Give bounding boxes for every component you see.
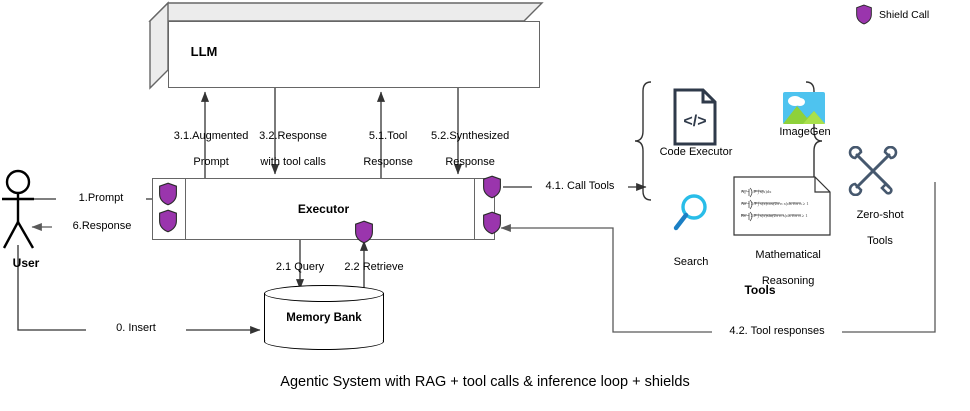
user-label: User xyxy=(2,256,50,270)
edge-label-prompt: 1.Prompt xyxy=(56,192,146,205)
memory-bank-label: Memory Bank xyxy=(264,285,384,350)
diagram-canvas: LLM Executor Memory Bank User 3.1.Augmen… xyxy=(0,0,970,411)
edge-label-line1: 3.2.Response xyxy=(259,130,327,142)
search-magnifier-icon[interactable] xyxy=(672,192,710,234)
edge-label-line2: Response xyxy=(363,156,413,168)
imagegen-label: ImageGen xyxy=(763,126,847,139)
math-document-icon[interactable]: A₀ = 1/P ∫ s(x)dx Aₙ = 2/P ∫ s(x)cos(2π … xyxy=(733,176,831,236)
edge-label-line2: Response xyxy=(445,156,495,168)
legend-label: Shield Call xyxy=(879,9,929,21)
tools-group-label: Tools xyxy=(700,283,820,297)
svg-text:</>: </> xyxy=(683,113,706,130)
imagegen-icon[interactable] xyxy=(783,92,825,124)
shield-icon-executor-input-bottom[interactable] xyxy=(158,209,178,233)
edge-label-synthesized-response: 5.2.Synthesized Response xyxy=(408,117,520,182)
shield-icon-executor-input-top[interactable] xyxy=(158,182,178,206)
edge-label-call-tools: 4.1. Call Tools xyxy=(532,180,628,193)
edge-label-line1: 5.1.Tool xyxy=(369,130,408,142)
edge-label-insert: 0. Insert xyxy=(86,322,186,335)
user-stick-figure xyxy=(2,171,34,248)
zero-shot-tools-label: Zero-shot Tools xyxy=(838,196,910,261)
zeroshot-label-line2: Tools xyxy=(867,235,893,247)
diagram-caption: Agentic System with RAG + tool calls & i… xyxy=(0,374,970,390)
edge-label-retrieve: 2.2 Retrieve xyxy=(330,261,418,274)
edge-label-response-tool-calls: 3.2.Response with tool calls xyxy=(227,117,347,182)
shield-icon-legend xyxy=(855,4,873,25)
code-executor-label: Code Executor xyxy=(650,146,742,159)
shield-icon-memory-retrieve[interactable] xyxy=(354,220,374,244)
edge-label-line2: with tool calls xyxy=(260,156,325,168)
math-label-line1: Mathematical xyxy=(755,249,820,261)
legend: Shield Call xyxy=(855,4,929,25)
edge-label-tool-responses: 4.2. Tool responses xyxy=(712,325,842,338)
code-executor-icon[interactable]: </> xyxy=(672,88,718,146)
search-label: Search xyxy=(655,256,727,269)
edge-insert xyxy=(18,245,260,330)
edge-label-line2: Prompt xyxy=(193,156,228,168)
zeroshot-label-line1: Zero-shot xyxy=(857,209,904,221)
edge-label-line1: 5.2.Synthesized xyxy=(431,130,509,142)
edge-label-query: 2.1 Query xyxy=(262,261,338,274)
llm-label: LLM xyxy=(18,18,390,85)
edge-label-response: 6.Response xyxy=(52,220,152,233)
executor-label: Executor xyxy=(152,178,495,240)
tools-brace-left xyxy=(635,82,651,200)
wrench-screwdriver-icon[interactable] xyxy=(848,146,898,196)
shield-icon-executor-output-bottom[interactable] xyxy=(482,211,502,235)
